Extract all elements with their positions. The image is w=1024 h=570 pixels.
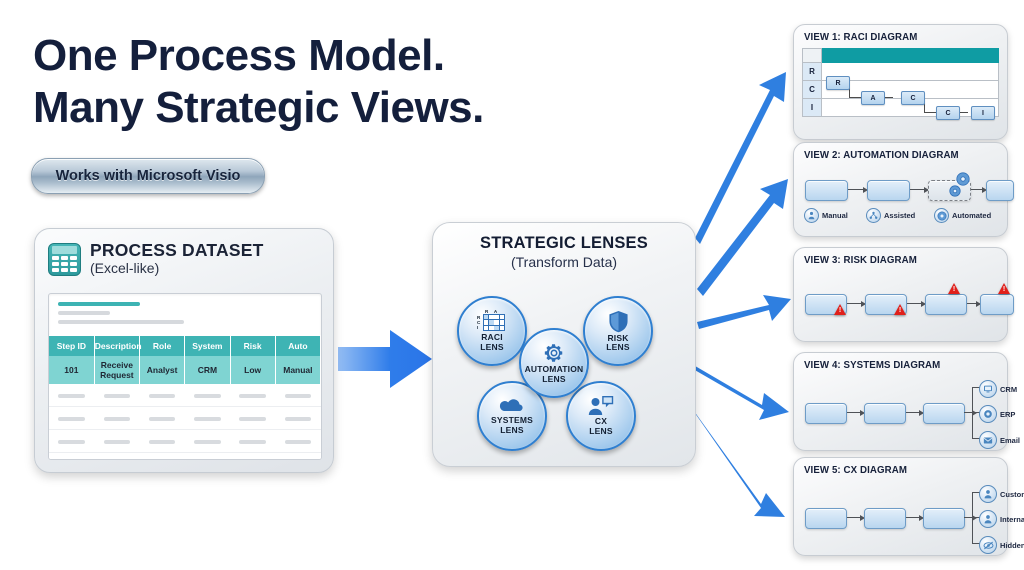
flow-connector <box>906 412 920 413</box>
view-card-systems[interactable]: VIEW 4: SYSTEMS DIAGRAM CRM <box>793 352 1008 451</box>
page-title: One Process Model. Many Strategic Views. <box>33 30 653 134</box>
person-icon <box>979 485 997 503</box>
branch-item-email[interactable]: Email <box>979 431 1020 449</box>
dataset-subtitle: (Excel-like) <box>90 260 263 277</box>
lens-systems-label-2: LENS <box>500 426 523 436</box>
automated-gear-icon <box>934 208 949 223</box>
raci-connector <box>849 97 861 98</box>
flow-connector <box>907 303 922 304</box>
col-risk: Risk <box>230 336 275 357</box>
lens-automation-label-2: LENS <box>542 375 565 385</box>
shield-icon <box>608 310 629 333</box>
raci-node[interactable]: R <box>826 76 850 90</box>
lenses-title: STRATEGIC LENSES <box>433 234 695 253</box>
works-with-visio-badge[interactable]: Works with Microsoft Visio <box>31 158 265 194</box>
risk-warning-icon: ! <box>948 283 960 294</box>
view-3-title: VIEW 3: RISK DIAGRAM <box>794 248 1007 266</box>
branch-item-internal[interactable]: Internal <box>979 510 1024 528</box>
process-node[interactable] <box>805 508 847 529</box>
view-2-title: VIEW 2: AUTOMATION DIAGRAM <box>794 143 1007 161</box>
raci-node[interactable]: A <box>861 91 885 105</box>
legend-item-assisted: Assisted <box>866 208 915 223</box>
raci-grid-icon: R A C I RCI <box>477 310 507 332</box>
view-card-raci[interactable]: VIEW 1: RACI DIAGRAM R C I R A C C I <box>793 24 1008 140</box>
branch-label-erp: ERP <box>1000 410 1015 419</box>
branch-label-hidden: Hidden <box>1000 541 1024 550</box>
view-1-body: R C I R A C C I <box>802 48 999 124</box>
process-node[interactable] <box>986 180 1014 201</box>
col-system: System <box>185 336 230 357</box>
lens-cx[interactable]: CX LENS <box>566 381 636 451</box>
view-2-body: Manual Assisted Automated <box>802 166 999 228</box>
view-4-title: VIEW 4: SYSTEMS DIAGRAM <box>794 353 1007 371</box>
legend-label-manual: Manual <box>822 211 848 220</box>
branch-item-erp[interactable]: ERP <box>979 405 1015 423</box>
lane-label-c: C <box>803 81 822 99</box>
lens-raci-label-2: LENS <box>480 343 503 353</box>
monitor-icon <box>979 380 997 398</box>
dataset-sheet: Step ID Description Role System Risk Aut… <box>48 293 322 460</box>
lens-raci[interactable]: R A C I RCI RACI LENS <box>457 296 527 366</box>
table-row[interactable]: 101 Receive Request Analyst CRM Low Manu… <box>49 356 321 384</box>
cog-network-icon <box>979 405 997 423</box>
legend-item-automated: Automated <box>934 208 991 223</box>
branch-label-email: Email <box>1000 436 1020 445</box>
process-dataset-card: PROCESS DATASET (Excel-like) Step ID Des… <box>34 228 334 473</box>
lens-risk[interactable]: RISK LENS <box>583 296 653 366</box>
legend-label-automated: Automated <box>952 211 991 220</box>
sheet-placeholder-bars <box>49 294 321 335</box>
flow-connector <box>910 189 925 190</box>
cell-system: CRM <box>185 356 230 384</box>
legend-label-assisted: Assisted <box>884 211 915 220</box>
gear-icon <box>543 342 565 364</box>
lane-label-r: R <box>803 63 822 81</box>
lens-automation[interactable]: AUTOMATION LENS <box>519 328 589 398</box>
cell-risk: Low <box>230 356 275 384</box>
gear-cluster-icon <box>942 171 974 203</box>
process-node[interactable] <box>805 403 847 424</box>
manual-person-icon <box>804 208 819 223</box>
raci-grid-side-labels: RCI <box>477 315 480 331</box>
process-node[interactable] <box>864 403 906 424</box>
view-1-title: VIEW 1: RACI DIAGRAM <box>794 25 1007 43</box>
cell-auto: Manual <box>275 356 320 384</box>
dataset-header: PROCESS DATASET (Excel-like) <box>35 229 333 277</box>
cell-role: Analyst <box>140 356 185 384</box>
table-row <box>49 384 321 407</box>
dataset-title: PROCESS DATASET <box>90 241 263 260</box>
person-chat-icon <box>588 396 614 416</box>
poster-canvas: One Process Model. Many Strategic Views.… <box>0 0 1024 570</box>
branch-item-customer[interactable]: Customer <box>979 485 1024 503</box>
col-role: Role <box>140 336 185 357</box>
eye-slash-icon <box>979 536 997 554</box>
process-node[interactable] <box>867 180 910 201</box>
risk-warning-icon: ! <box>894 304 906 315</box>
view-5-body: Customer Internal Hidden <box>802 481 999 547</box>
headline-line-1: One Process Model. <box>33 31 445 80</box>
table-row <box>49 430 321 453</box>
col-auto: Auto <box>275 336 320 357</box>
table-row <box>49 453 321 461</box>
branch-label-internal: Internal <box>1000 515 1024 524</box>
view-4-body: CRM ERP Email <box>802 376 999 442</box>
process-node[interactable] <box>864 508 906 529</box>
flow-connector <box>967 303 977 304</box>
process-node[interactable] <box>923 403 965 424</box>
col-step-id: Step ID <box>49 336 94 357</box>
cell-description: Receive Request <box>94 356 139 384</box>
raci-node[interactable]: I <box>971 106 995 120</box>
branch-label-customer: Customer <box>1000 490 1024 499</box>
process-node[interactable] <box>980 294 1014 315</box>
raci-node[interactable]: C <box>901 91 925 105</box>
raci-node[interactable]: C <box>936 106 960 120</box>
process-node[interactable] <box>925 294 967 315</box>
flow-connector <box>848 189 864 190</box>
assisted-network-icon <box>866 208 881 223</box>
legend-item-manual: Manual <box>804 208 848 223</box>
raci-header-band <box>803 49 999 63</box>
flow-connector <box>847 412 861 413</box>
badge-label: Works with Microsoft Visio <box>56 168 241 184</box>
view-card-automation[interactable]: VIEW 2: AUTOMATION DIAGRAM Manual <box>793 142 1008 237</box>
view-3-body: ! ! ! ! <box>802 271 999 333</box>
cloud-icon <box>499 397 525 415</box>
risk-warning-icon: ! <box>998 283 1010 294</box>
flow-connector <box>906 517 920 518</box>
lens-cx-label-2: LENS <box>589 427 612 437</box>
flow-connector <box>847 303 862 304</box>
person-icon <box>979 510 997 528</box>
raci-connector <box>924 112 936 113</box>
branch-label-crm: CRM <box>1000 385 1017 394</box>
headline-line-2: Many Strategic Views. <box>33 82 653 134</box>
view-card-risk[interactable]: VIEW 3: RISK DIAGRAM ! ! ! ! <box>793 247 1008 342</box>
branch-item-hidden[interactable]: Hidden <box>979 536 1024 554</box>
process-node[interactable] <box>805 180 848 201</box>
strategic-lenses-panel: STRATEGIC LENSES (Transform Data) R A C … <box>432 222 696 467</box>
branch-item-crm[interactable]: CRM <box>979 380 1017 398</box>
risk-warning-icon: ! <box>834 304 846 315</box>
view-5-title: VIEW 5: CX DIAGRAM <box>794 458 1007 476</box>
process-node[interactable] <box>923 508 965 529</box>
lens-risk-label-2: LENS <box>606 343 629 353</box>
envelope-icon <box>979 431 997 449</box>
lenses-subtitle: (Transform Data) <box>433 254 695 270</box>
dataset-table: Step ID Description Role System Risk Aut… <box>49 335 321 460</box>
table-header-row: Step ID Description Role System Risk Aut… <box>49 336 321 357</box>
table-row <box>49 407 321 430</box>
dataset-to-lenses-arrow <box>338 322 434 396</box>
col-description: Description <box>94 336 139 357</box>
flow-connector <box>847 517 861 518</box>
lane-label-i: I <box>803 99 822 117</box>
cell-step-id: 101 <box>49 356 94 384</box>
view-card-cx[interactable]: VIEW 5: CX DIAGRAM Customer <box>793 457 1008 556</box>
spreadsheet-icon <box>48 243 81 276</box>
